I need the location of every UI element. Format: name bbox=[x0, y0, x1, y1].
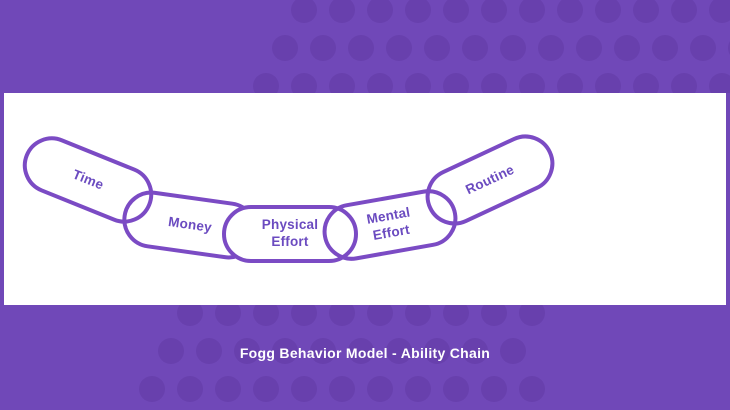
background-dot bbox=[538, 35, 564, 61]
top-dot-pattern bbox=[0, 0, 730, 93]
top-decorative-band bbox=[0, 0, 730, 93]
background-dot bbox=[215, 376, 241, 402]
background-dot bbox=[443, 376, 469, 402]
diagram-caption: Fogg Behavior Model - Ability Chain bbox=[0, 345, 730, 361]
background-dot bbox=[557, 0, 583, 23]
background-dot bbox=[443, 73, 469, 93]
background-dot bbox=[291, 305, 317, 326]
background-dot bbox=[595, 0, 621, 23]
poster-stage: TimeMoneyPhysical EffortMental EffortRou… bbox=[0, 0, 730, 410]
background-dot bbox=[671, 73, 697, 93]
background-dot bbox=[291, 0, 317, 23]
chain-link-routine: Routine bbox=[416, 125, 564, 235]
background-dot bbox=[614, 35, 640, 61]
background-dot bbox=[177, 376, 203, 402]
background-dot bbox=[519, 73, 545, 93]
background-dot bbox=[405, 305, 431, 326]
background-dot bbox=[386, 35, 412, 61]
background-dot bbox=[481, 376, 507, 402]
background-dot bbox=[177, 305, 203, 326]
background-dot bbox=[576, 35, 602, 61]
background-dot bbox=[329, 0, 355, 23]
background-dot bbox=[405, 0, 431, 23]
background-dot bbox=[367, 376, 393, 402]
background-dot bbox=[633, 73, 659, 93]
background-dot bbox=[519, 376, 545, 402]
chain-link-label: Money bbox=[167, 214, 213, 237]
background-dot bbox=[652, 35, 678, 61]
ability-chain-diagram: TimeMoneyPhysical EffortMental EffortRou… bbox=[4, 93, 726, 305]
background-dot bbox=[367, 305, 393, 326]
background-dot bbox=[519, 305, 545, 326]
diagram-canvas: TimeMoneyPhysical EffortMental EffortRou… bbox=[4, 93, 726, 305]
background-dot bbox=[481, 305, 507, 326]
background-dot bbox=[139, 376, 165, 402]
background-dot bbox=[310, 35, 336, 61]
background-dot bbox=[329, 376, 355, 402]
background-dot bbox=[443, 305, 469, 326]
background-dot bbox=[215, 305, 241, 326]
background-dot bbox=[348, 35, 374, 61]
background-dot bbox=[500, 35, 526, 61]
background-dot bbox=[481, 0, 507, 23]
background-dot bbox=[443, 0, 469, 23]
background-dot bbox=[633, 0, 659, 23]
background-dot bbox=[709, 0, 730, 23]
background-dot bbox=[367, 73, 393, 93]
background-dot bbox=[329, 73, 355, 93]
background-dot bbox=[424, 35, 450, 61]
background-dot bbox=[481, 73, 507, 93]
background-dot bbox=[329, 305, 355, 326]
chain-link-label: Routine bbox=[463, 161, 517, 198]
background-dot bbox=[253, 73, 279, 93]
background-dot bbox=[272, 35, 298, 61]
background-dot bbox=[690, 35, 716, 61]
background-dot bbox=[291, 73, 317, 93]
background-dot bbox=[462, 35, 488, 61]
background-dot bbox=[519, 0, 545, 23]
background-dot bbox=[405, 73, 431, 93]
background-dot bbox=[291, 376, 317, 402]
background-dot bbox=[595, 73, 621, 93]
background-dot bbox=[367, 0, 393, 23]
chain-link-label: Time bbox=[70, 166, 106, 194]
chain-link-label: Mental Effort bbox=[365, 205, 414, 246]
chain-link-label: Physical Effort bbox=[262, 217, 318, 251]
background-dot bbox=[709, 73, 730, 93]
background-dot bbox=[405, 376, 431, 402]
background-dot bbox=[671, 0, 697, 23]
background-dot bbox=[557, 73, 583, 93]
background-dot bbox=[253, 376, 279, 402]
background-dot bbox=[253, 305, 279, 326]
